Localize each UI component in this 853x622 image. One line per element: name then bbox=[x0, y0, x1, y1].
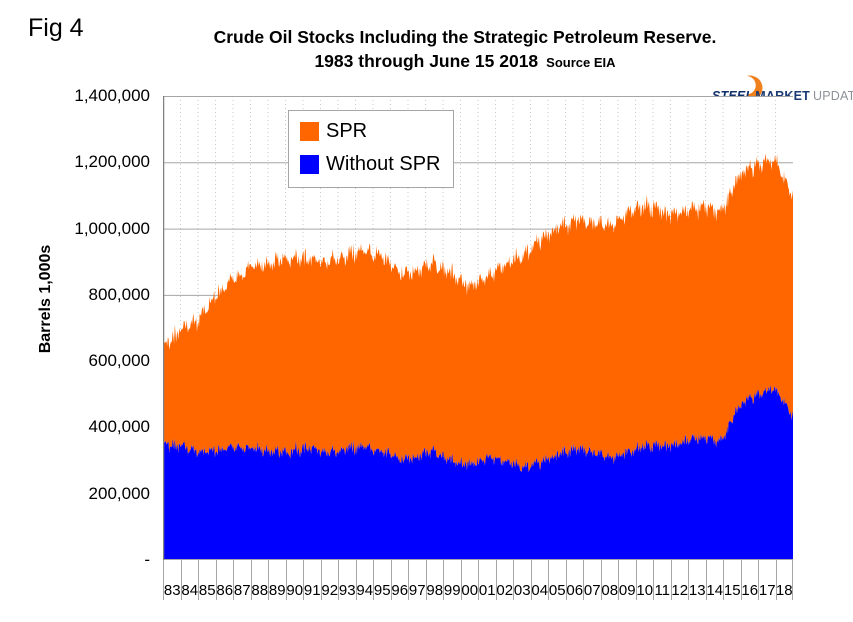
chart-title-block: Crude Oil Stocks Including the Strategic… bbox=[120, 26, 810, 74]
x-axis-tick-label: 10 bbox=[636, 560, 654, 600]
x-axis-tick-text: 99 bbox=[444, 583, 461, 600]
x-axis-tick-text: 94 bbox=[356, 583, 373, 600]
y-axis-tick-label: 200,000 bbox=[40, 485, 150, 502]
x-axis-tick-label: 00 bbox=[461, 560, 479, 600]
legend-item-spr: SPR bbox=[300, 121, 367, 141]
y-axis-tick-label: 1,200,000 bbox=[40, 153, 150, 170]
x-axis-tick-text: 00 bbox=[461, 583, 478, 600]
x-axis-tick-text: 89 bbox=[269, 583, 286, 600]
x-axis-tick-label: 04 bbox=[531, 560, 549, 600]
x-axis-tick-text: 85 bbox=[199, 583, 216, 600]
x-axis-tick-label: 91 bbox=[303, 560, 321, 600]
x-axis-tick-label: 12 bbox=[671, 560, 689, 600]
x-axis-tick-label: 97 bbox=[408, 560, 426, 600]
chart-title-line-1: Crude Oil Stocks Including the Strategic… bbox=[120, 26, 810, 48]
x-axis-tick-text: 04 bbox=[531, 583, 548, 600]
x-axis-tick-text: 11 bbox=[654, 583, 670, 600]
x-axis-tick-text: 15 bbox=[724, 583, 741, 600]
x-axis-tick-text: 10 bbox=[636, 583, 653, 600]
x-axis-tick-text: 84 bbox=[181, 583, 198, 600]
y-axis-tick-label: 400,000 bbox=[40, 418, 150, 435]
chart-subtitle-dates: 1983 through June 15 2018 bbox=[314, 51, 538, 71]
x-axis-tick-label: 18 bbox=[776, 560, 794, 600]
x-axis-tick-label: 96 bbox=[391, 560, 409, 600]
x-axis-tick-label: 02 bbox=[496, 560, 514, 600]
y-axis-tick-label: 1,000,000 bbox=[40, 220, 150, 237]
legend-item-without-spr: Without SPR bbox=[300, 154, 440, 174]
x-axis-tick-label: 07 bbox=[583, 560, 601, 600]
x-axis-tick-text: 86 bbox=[216, 583, 233, 600]
x-axis-tick-text: 05 bbox=[549, 583, 566, 600]
x-axis-tick-text: 12 bbox=[671, 583, 688, 600]
x-axis-tick-label: 87 bbox=[233, 560, 251, 600]
x-axis-tick-label: 86 bbox=[216, 560, 234, 600]
x-axis-tick-text: 01 bbox=[479, 583, 496, 600]
y-axis-tick-label: - bbox=[40, 551, 150, 568]
x-axis-tick-label: 15 bbox=[723, 560, 741, 600]
chart-title-line-2: 1983 through June 15 2018Source EIA bbox=[120, 50, 810, 74]
x-axis-tick-text: 83 bbox=[164, 583, 181, 600]
x-axis-tick-label: 90 bbox=[286, 560, 304, 600]
x-axis-tick-text: 91 bbox=[304, 583, 321, 600]
x-axis-tick-label: 09 bbox=[618, 560, 636, 600]
x-axis-tick-label: 01 bbox=[478, 560, 496, 600]
x-axis-tick-label: 89 bbox=[268, 560, 286, 600]
x-axis-tick-label: 16 bbox=[741, 560, 759, 600]
x-axis-tick-text: 07 bbox=[584, 583, 601, 600]
x-axis-tick-text: 95 bbox=[374, 583, 391, 600]
y-axis-tick-label: 800,000 bbox=[40, 286, 150, 303]
x-axis-tick-label: 17 bbox=[758, 560, 776, 600]
chart-source-label: Source EIA bbox=[538, 55, 615, 70]
x-axis-tick-text: 02 bbox=[496, 583, 513, 600]
x-axis-tick-text: 14 bbox=[706, 583, 723, 600]
x-axis-tick-label: 95 bbox=[373, 560, 391, 600]
x-axis-tick-text: 13 bbox=[689, 583, 706, 600]
x-axis-tick-label: 93 bbox=[338, 560, 356, 600]
x-axis-tick-label: 83 bbox=[163, 560, 181, 600]
x-axis-tick-text: 97 bbox=[409, 583, 426, 600]
x-axis-tick-label: 94 bbox=[356, 560, 374, 600]
x-axis-tick-label: 92 bbox=[321, 560, 339, 600]
x-axis-tick-text: 87 bbox=[234, 583, 251, 600]
x-axis-tick-label: 05 bbox=[548, 560, 566, 600]
legend-swatch-without-spr bbox=[300, 155, 319, 174]
plot-area bbox=[163, 96, 793, 560]
chart-legend: SPR Without SPR bbox=[288, 110, 454, 188]
x-axis-tick-text: 18 bbox=[776, 583, 793, 600]
logo-word-update: UPDATE bbox=[810, 89, 853, 103]
legend-swatch-spr bbox=[300, 122, 319, 141]
x-axis-tick-label: 85 bbox=[198, 560, 216, 600]
y-axis-tick-labels: -200,000400,000600,000800,0001,000,0001,… bbox=[38, 0, 150, 622]
x-axis-tick-label: 84 bbox=[181, 560, 199, 600]
y-axis-tick-label: 600,000 bbox=[40, 352, 150, 369]
x-axis-tick-text: 08 bbox=[601, 583, 618, 600]
y-axis-tick-label: 1,400,000 bbox=[40, 87, 150, 104]
x-axis-tick-label: 98 bbox=[426, 560, 444, 600]
x-axis-tick-text: 17 bbox=[759, 583, 776, 600]
x-axis-tick-labels: 8384858687888990919293949596979899000102… bbox=[163, 560, 793, 600]
x-axis-tick-label: 99 bbox=[443, 560, 461, 600]
x-axis-tick-text: 98 bbox=[426, 583, 443, 600]
x-axis-tick-text: 09 bbox=[619, 583, 636, 600]
x-axis-tick-label: 08 bbox=[601, 560, 619, 600]
x-axis-tick-label: 11 bbox=[653, 560, 671, 600]
chart-figure: Fig 4 Crude Oil Stocks Including the Str… bbox=[0, 0, 853, 622]
x-axis-tick-label: 14 bbox=[706, 560, 724, 600]
x-axis-tick-label: 13 bbox=[688, 560, 706, 600]
legend-label-spr: SPR bbox=[319, 121, 367, 141]
x-axis-tick-text: 93 bbox=[339, 583, 356, 600]
x-axis-tick-label: 06 bbox=[566, 560, 584, 600]
x-axis-tick-label: 88 bbox=[251, 560, 269, 600]
legend-label-without-spr: Without SPR bbox=[319, 154, 440, 174]
stacked-area-plot bbox=[163, 96, 793, 560]
x-axis-tick-text: 90 bbox=[286, 583, 303, 600]
x-axis-tick-text: 06 bbox=[566, 583, 583, 600]
x-axis-tick-text: 16 bbox=[741, 583, 758, 600]
area-series-spr bbox=[163, 154, 793, 473]
x-axis-tick-text: 88 bbox=[251, 583, 268, 600]
x-axis-tick-text: 03 bbox=[514, 583, 531, 600]
x-axis-tick-text: 96 bbox=[391, 583, 408, 600]
x-axis-tick-text: 92 bbox=[321, 583, 338, 600]
x-axis-tick-label: 03 bbox=[513, 560, 531, 600]
